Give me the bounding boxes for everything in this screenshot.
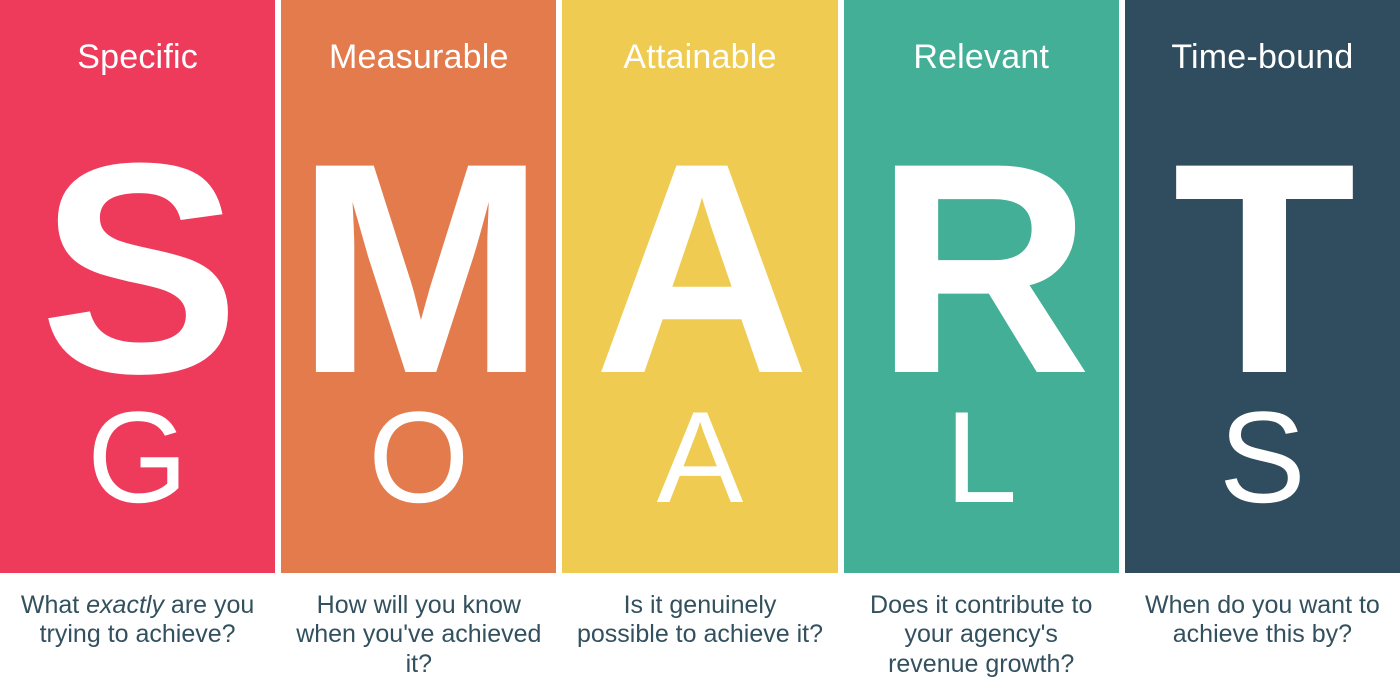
caption-time-bound: When do you want to achieve this by?: [1137, 591, 1387, 650]
caption-cell-attainable: Is it genuinely possible to achieve it?: [562, 573, 837, 700]
big-letter-s: S: [0, 118, 275, 418]
sub-letter-o: O: [281, 392, 556, 522]
big-letter-a: A: [562, 118, 837, 418]
caption-specific: What exactly are you trying to achieve?: [13, 591, 263, 650]
color-columns: Specific S G Measurable M O Attainable A…: [0, 0, 1400, 573]
column-attainable: Attainable A A: [562, 0, 837, 573]
column-header-relevant: Relevant: [913, 40, 1049, 74]
caption-cell-relevant: Does it contribute to your agency's reve…: [844, 573, 1119, 700]
caption-measurable: How will you know when you've achieved i…: [294, 591, 544, 679]
sub-letter-s: S: [1125, 392, 1400, 522]
big-letter-r: R: [844, 118, 1119, 418]
smart-goals-infographic: Specific S G Measurable M O Attainable A…: [0, 0, 1400, 700]
caption-relevant: Does it contribute to your agency's reve…: [856, 591, 1106, 679]
column-header-measurable: Measurable: [329, 40, 509, 74]
column-measurable: Measurable M O: [281, 0, 556, 573]
column-header-time-bound: Time-bound: [1171, 40, 1353, 74]
column-header-specific: Specific: [77, 40, 198, 74]
big-letter-m: M: [281, 118, 556, 418]
caption-attainable: Is it genuinely possible to achieve it?: [575, 591, 825, 650]
caption-cell-measurable: How will you know when you've achieved i…: [281, 573, 556, 700]
sub-letter-g: G: [0, 392, 275, 522]
caption-cell-specific: What exactly are you trying to achieve?: [0, 573, 275, 700]
column-relevant: Relevant R L: [844, 0, 1119, 573]
caption-row: What exactly are you trying to achieve? …: [0, 573, 1400, 700]
column-specific: Specific S G: [0, 0, 275, 573]
sub-letter-l: L: [844, 392, 1119, 522]
column-time-bound: Time-bound T S: [1125, 0, 1400, 573]
sub-letter-a: A: [562, 392, 837, 522]
column-header-attainable: Attainable: [623, 40, 776, 74]
caption-cell-time-bound: When do you want to achieve this by?: [1125, 573, 1400, 700]
caption-specific-emphasis: exactly: [86, 591, 164, 619]
big-letter-t: T: [1125, 118, 1400, 418]
caption-specific-lead: What: [21, 591, 86, 619]
